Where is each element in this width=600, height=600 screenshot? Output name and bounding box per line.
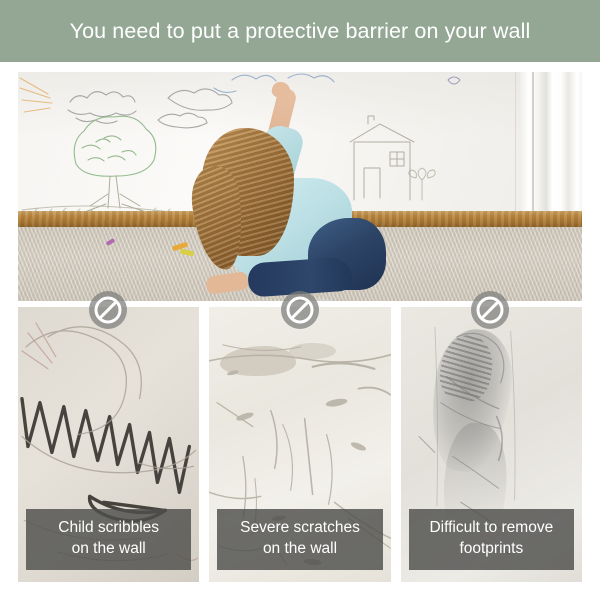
caption-line-1: Difficult to remove: [413, 518, 570, 538]
door-panel-line: [515, 72, 516, 220]
promo-infographic: You need to put a protective barrier on …: [0, 0, 600, 600]
panel-severe-scratches: Severe scratches on the wall: [209, 307, 390, 582]
prohibition-icon: [281, 291, 319, 329]
prohibition-glyph: [475, 295, 505, 325]
prohibition-glyph: [285, 295, 315, 325]
caption-line-2: on the wall: [221, 539, 378, 559]
caption-line-1: Severe scratches: [221, 518, 378, 538]
panel-caption: Severe scratches on the wall: [217, 509, 382, 570]
problem-panel-row: Child scribbles on the wall: [18, 307, 582, 582]
caption-line-2: on the wall: [30, 539, 187, 559]
panel-child-scribbles: Child scribbles on the wall: [18, 307, 199, 582]
hero-image: [18, 72, 582, 301]
door-moulding-edge: [532, 72, 534, 220]
caption-line-2: footprints: [413, 539, 570, 559]
door-moulding: [520, 72, 582, 220]
page-title: You need to put a protective barrier on …: [70, 19, 531, 44]
child-leg: [205, 271, 249, 295]
caption-line-1: Child scribbles: [30, 518, 187, 538]
prohibition-icon: [471, 291, 509, 329]
prohibition-glyph: [93, 295, 123, 325]
panel-caption: Difficult to remove footprints: [409, 509, 574, 570]
header-banner: You need to put a protective barrier on …: [0, 0, 600, 62]
child-figure: [196, 92, 386, 301]
panel-caption: Child scribbles on the wall: [26, 509, 191, 570]
prohibition-icon: [89, 291, 127, 329]
panel-difficult-footprints: Difficult to remove footprints: [401, 307, 582, 582]
